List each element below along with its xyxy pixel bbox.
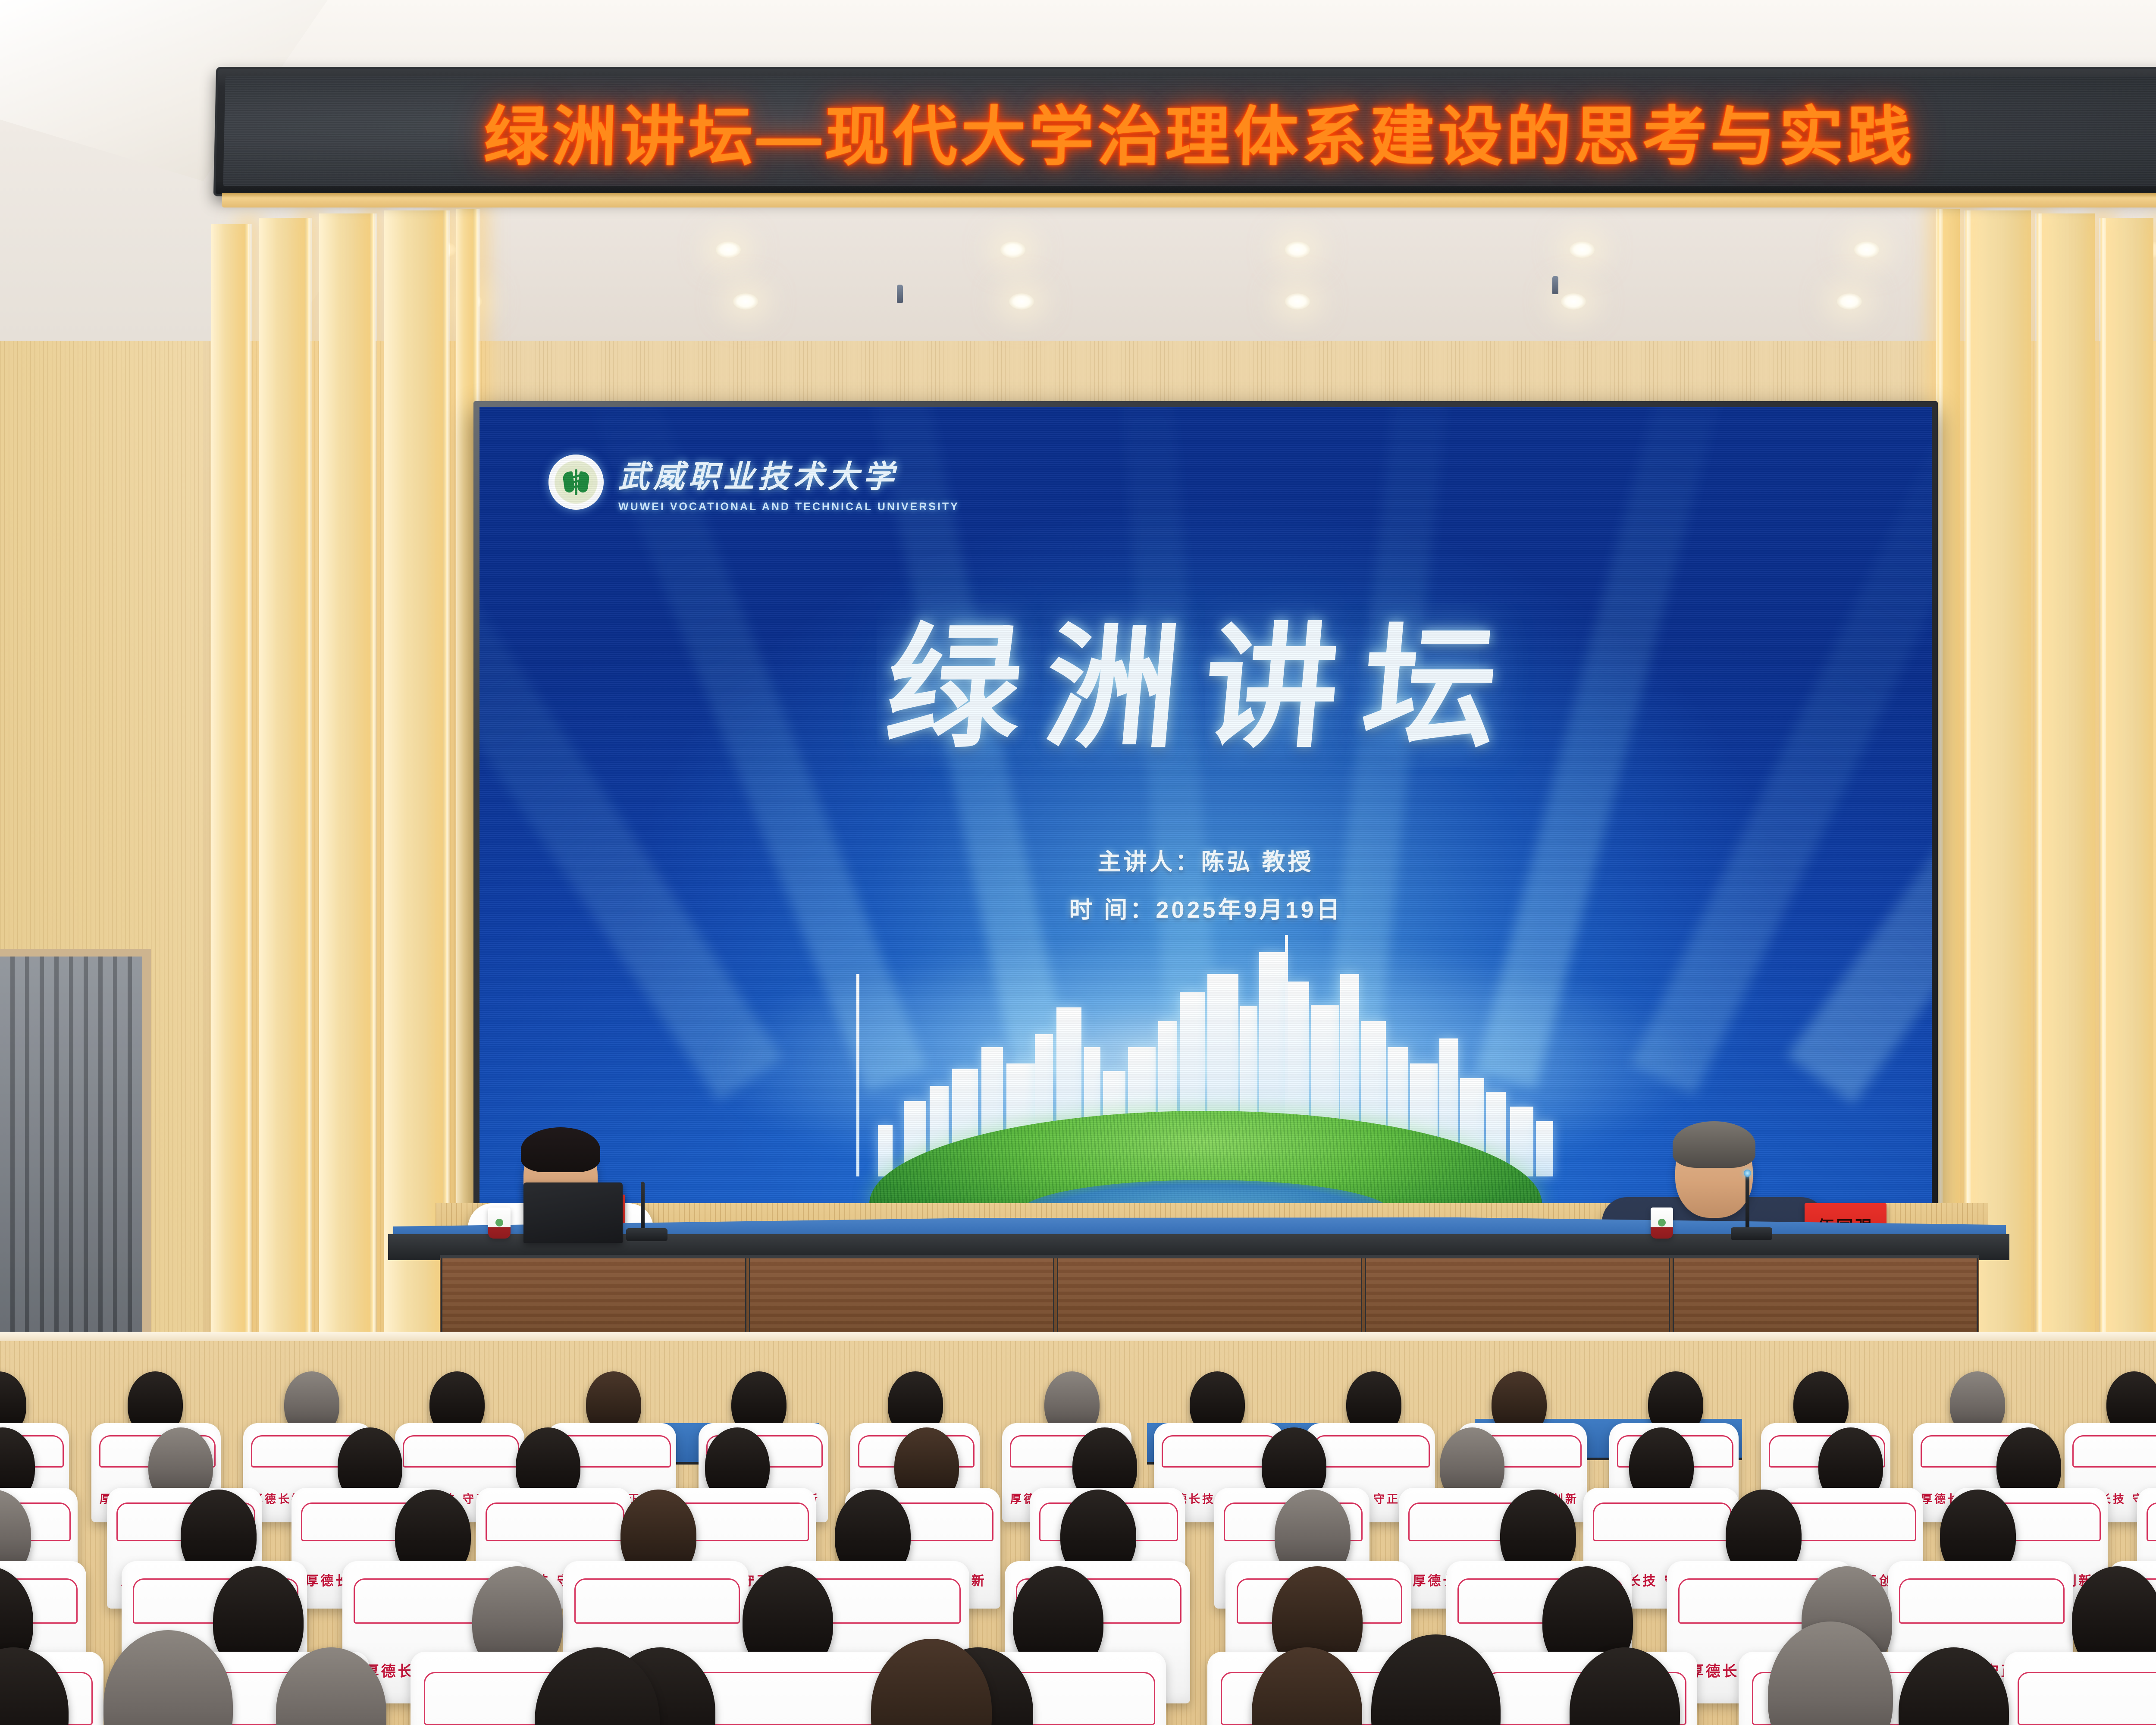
downlight-icon [1000, 241, 1025, 258]
downlight-icon [1009, 293, 1034, 310]
audience-chair[interactable]: 厚德长技 守正创新 [2004, 1652, 2156, 1725]
university-tree-emblem-icon [548, 455, 604, 510]
wall-light-fin [211, 224, 250, 1432]
speaker-line: 主讲人：陈弘 教授 [1097, 843, 1313, 877]
microphone-stem [641, 1182, 645, 1233]
paper-cup [488, 1207, 511, 1239]
sprinkler-icon [897, 285, 903, 303]
sprinkler-icon [1552, 276, 1558, 294]
university-name-cn: 武威职业技术大学 [618, 451, 959, 496]
downlight-icon [716, 241, 741, 258]
wall-light-fin [259, 218, 310, 1438]
screen-university-logo: 武威职业技术大学 WUWEI VOCATIONAL AND TECHNICAL … [548, 451, 959, 513]
wall-light-fin [2038, 213, 2095, 1443]
downlight-icon [1854, 241, 1879, 258]
university-name-en: WUWEI VOCATIONAL AND TECHNICAL UNIVERSIT… [618, 501, 959, 513]
main-led-screen: 武威职业技术大学 WUWEI VOCATIONAL AND TECHNICAL … [479, 407, 1932, 1227]
microphone-tip-icon [1744, 1170, 1751, 1177]
banner-underlight [222, 193, 2156, 207]
skyline-spire [856, 974, 859, 1176]
microphone-base [626, 1228, 667, 1241]
led-banner: 绿洲讲坛—现代大学治理体系建设的思考与实践 [213, 67, 2156, 196]
date-line: 时 间：2025年9月19日 [1069, 891, 1342, 925]
downlight-icon [1285, 293, 1310, 310]
screen-meta-block: 主讲人：陈弘 教授 时 间：2025年9月19日 [479, 843, 1932, 925]
lecture-hall-scene: itc 绿洲讲坛—现代大学治理体系建设的思考与实践 [0, 0, 2156, 1725]
downlight-icon [733, 293, 758, 310]
speaker-hair [1673, 1121, 1755, 1168]
downlight-icon [1561, 293, 1586, 310]
main-led-screen-frame: 武威职业技术大学 WUWEI VOCATIONAL AND TECHNICAL … [473, 401, 1938, 1233]
forum-title: 绿洲讲坛 [479, 580, 1932, 773]
led-banner-screen: 绿洲讲坛—现代大学治理体系建设的思考与实践 [223, 76, 2156, 186]
audience-wall-trim [0, 1332, 2156, 1341]
tree-icon [563, 468, 589, 496]
wall-light-fin [2102, 218, 2153, 1438]
skyline-building [1510, 1107, 1533, 1176]
skyline-building [1536, 1121, 1553, 1176]
laptop [523, 1182, 623, 1243]
microphone-base [1731, 1227, 1772, 1240]
paper-cup [1651, 1207, 1673, 1239]
wall-light-fin [319, 213, 375, 1443]
led-banner-text: 绿洲讲坛—现代大学治理体系建设的思考与实践 [483, 85, 1915, 178]
downlight-icon [1570, 241, 1595, 258]
skyline-building [878, 1125, 893, 1176]
microphone-stem [1745, 1174, 1749, 1231]
downlight-icon [1837, 293, 1862, 310]
side-curtain [0, 949, 151, 1380]
downlight-icon [1285, 241, 1310, 258]
logo-text-block: 武威职业技术大学 WUWEI VOCATIONAL AND TECHNICAL … [618, 451, 959, 513]
speaker-hair [521, 1127, 600, 1172]
emblem-inner [559, 465, 593, 499]
